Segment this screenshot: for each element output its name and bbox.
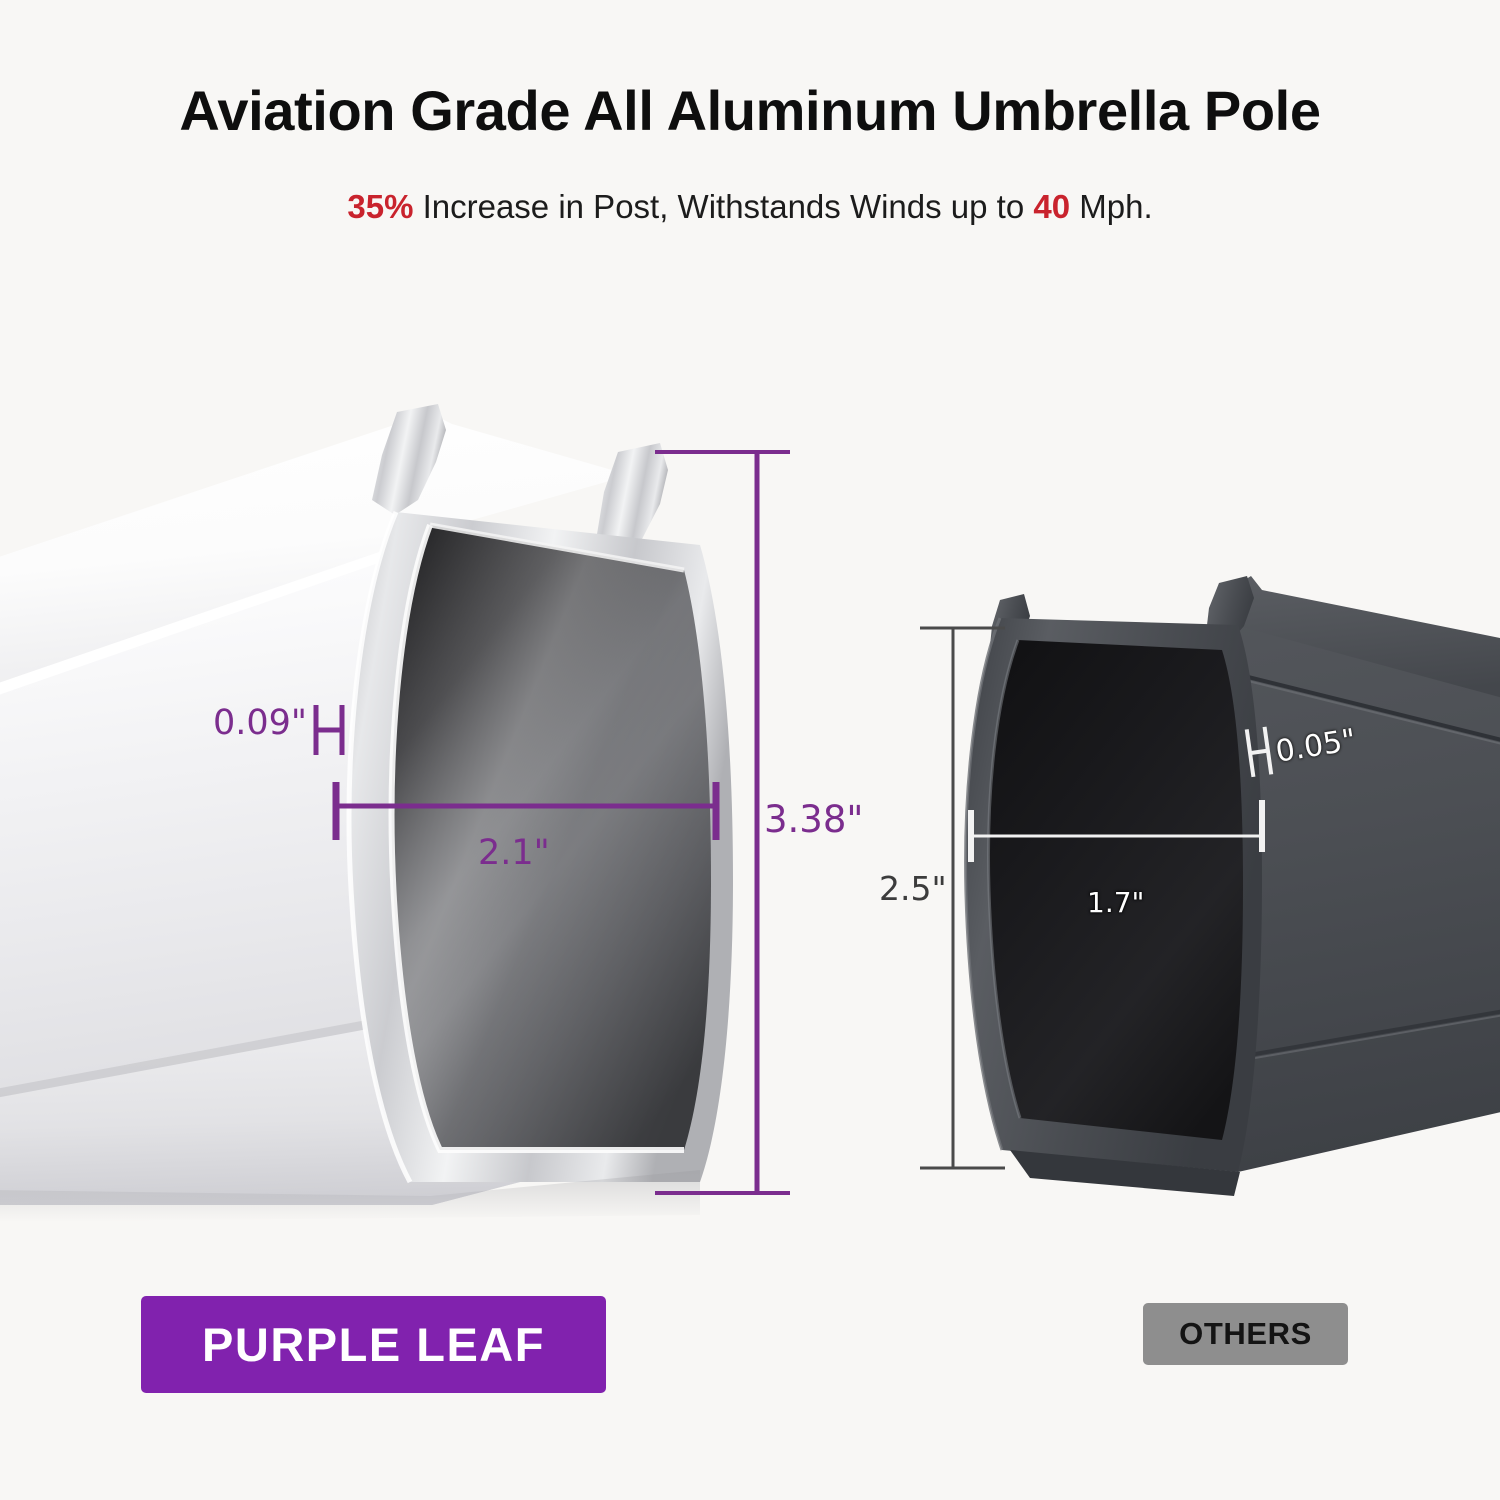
infographic-canvas: Aviation Grade All Aluminum Umbrella Pol… — [0, 0, 1500, 1500]
brand-badge-others: OTHERS — [1143, 1303, 1348, 1365]
dimension-label-inner-width-purpleleaf: 2.1" — [478, 833, 550, 873]
purple-leaf-pole-graphic — [0, 404, 733, 1222]
dim-005-bar — [1250, 751, 1268, 754]
dimension-label-wall-thickness-purpleleaf: 0.09" — [213, 703, 307, 743]
others-pole-graphic — [966, 576, 1500, 1196]
dimension-label-outer-height-purpleleaf: 3.38" — [764, 798, 863, 841]
dimension-label-inner-width-others: 1.7" — [1087, 886, 1144, 919]
dimension-label-outer-height-others: 2.5" — [879, 869, 947, 908]
brand-badge-purple-leaf: PURPLE LEAF — [141, 1296, 606, 1393]
